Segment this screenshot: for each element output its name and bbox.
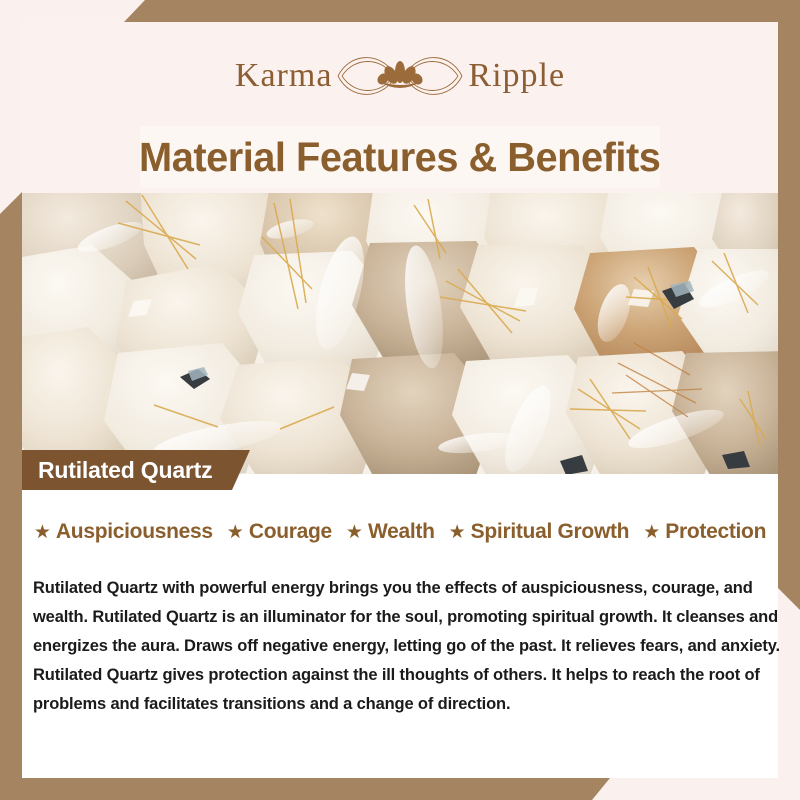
star-icon: ★ [346, 523, 363, 542]
feature-label: Protection [665, 520, 766, 544]
page-title-text: Material Features & Benefits [139, 134, 660, 181]
frame-bottom-bar [0, 778, 800, 800]
brand-logo[interactable]: Karma [0, 44, 800, 108]
feature-list: ★ Auspiciousness ★ Courage ★ Wealth ★ Sp… [22, 520, 778, 544]
page-title: Material Features & Benefits [140, 126, 660, 188]
feature-item-courage: ★ Courage [220, 520, 339, 544]
lotus-flourish-icon [336, 46, 464, 106]
feature-label: Wealth [368, 520, 435, 544]
feature-label: Spiritual Growth [471, 520, 630, 544]
feature-item-protection: ★ Protection [636, 520, 773, 544]
feature-label: Courage [249, 520, 332, 544]
product-info-graphic: Karma [0, 0, 800, 800]
stone-name-text: Rutilated Quartz [38, 457, 212, 484]
star-icon: ★ [643, 523, 660, 542]
description-paragraph: Rutilated Quartz with powerful energy br… [33, 574, 783, 719]
star-icon: ★ [449, 523, 466, 542]
brand-name-left: Karma [235, 59, 333, 93]
brand-name-right: Ripple [468, 59, 565, 93]
feature-item-wealth: ★ Wealth [339, 520, 442, 544]
feature-label: Auspiciousness [56, 520, 213, 544]
feature-item-spiritual-growth: ★ Spiritual Growth [442, 520, 637, 544]
stone-name-banner: Rutilated Quartz [22, 450, 250, 490]
star-icon: ★ [34, 523, 51, 542]
feature-item-auspiciousness: ★ Auspiciousness [27, 520, 220, 544]
frame-left-bar [0, 192, 22, 800]
frame-top-bar [0, 0, 800, 22]
product-photo [22, 193, 778, 474]
star-icon: ★ [227, 523, 244, 542]
